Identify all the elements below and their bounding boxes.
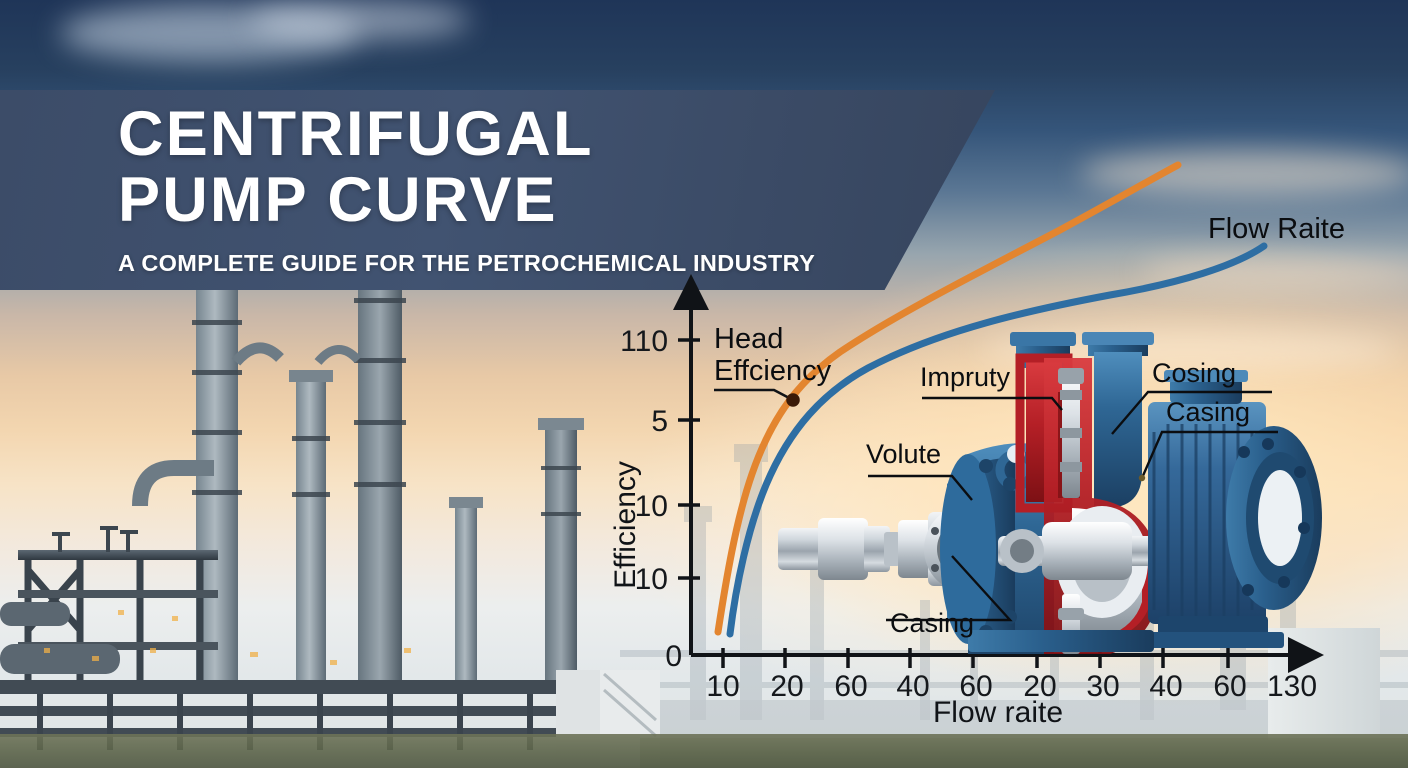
poster-canvas: CENTRIFUGAL PUMP CURVE A COMPLETE GUIDE … [0, 0, 1408, 768]
ground-strip [0, 734, 1408, 768]
title-banner: CENTRIFUGAL PUMP CURVE A COMPLETE GUIDE … [0, 90, 995, 290]
page-title-line1: CENTRIFUGAL [118, 104, 918, 164]
page-title-line2: PUMP CURVE [118, 170, 918, 230]
page-subtitle: A COMPLETE GUIDE FOR THE PETROCHEMICAL I… [118, 250, 918, 277]
centrifugal-pump-cutaway-illustration [772, 332, 1324, 654]
background-refinery-left [0, 250, 660, 768]
pump-base-plate [968, 630, 1154, 652]
pump-motor-housing [1144, 370, 1322, 648]
